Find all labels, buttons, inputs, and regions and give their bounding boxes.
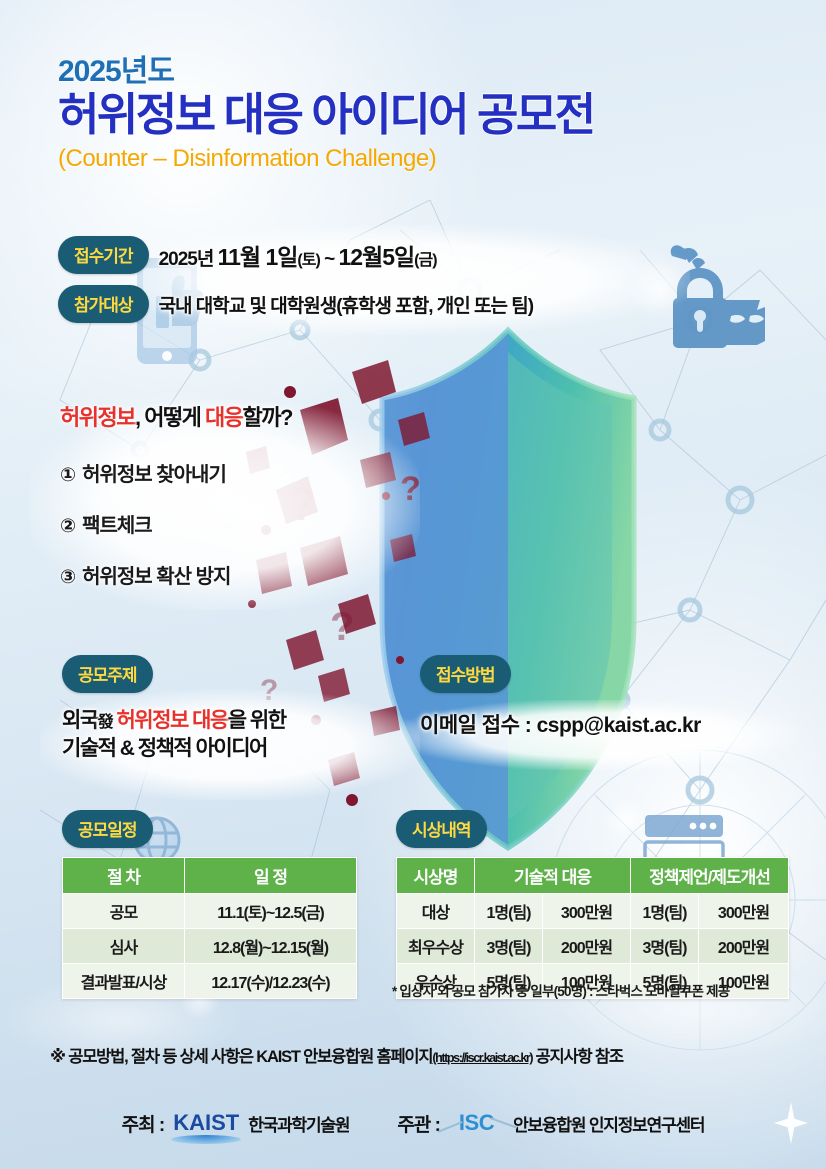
table-row: 결과발표/시상 12.17(수)/12.23(수) (63, 964, 357, 999)
badge-submission-method: 접수방법 (420, 655, 511, 693)
table-cell: 공모 (63, 894, 185, 929)
table-row: 심사 12.8(월)~12.15(월) (63, 929, 357, 964)
table-cell: 300만원 (543, 894, 631, 929)
question-list: ①허위정보 찾아내기 ②팩트체크 ③허위정보 확산 방지 (60, 458, 420, 589)
organizer-label: 주관 : (397, 1110, 440, 1137)
table-row: 공모 11.1(토)~12.5(금) (63, 894, 357, 929)
table-row: 대상 1명(팀) 300만원 1명(팀) 300만원 (397, 894, 789, 929)
topic-block: 공모주제 외국發 허위정보 대응을 위한 기술적 & 정책적 아이디어 (62, 655, 286, 764)
title-block: 2025년도 허위정보 대응 아이디어 공모전 (Counter – Disin… (58, 55, 778, 173)
list-item: ③허위정보 확산 방지 (60, 560, 420, 589)
page-title: 허위정보 대응 아이디어 공모전 (58, 90, 778, 140)
badge-awards: 시상내역 (396, 810, 487, 848)
table-cell: 11.1(토)~12.5(금) (185, 894, 357, 929)
submission-block: 접수방법 이메일 접수 : cspp@kaist.ac.kr (420, 655, 701, 739)
svg-text:?: ? (330, 605, 354, 649)
table-row: 최우수상 3명(팀) 200만원 3명(팀) 200만원 (397, 929, 789, 964)
table-header-cell: 일 정 (185, 858, 357, 894)
table-cell: 최우수상 (397, 929, 475, 964)
list-item: ①허위정보 찾아내기 (60, 458, 420, 487)
footer: 주최 : KAIST 한국과학기술원 주관 : ISC 안보융합원 인지정보연구… (0, 1100, 826, 1169)
topic-text: 외국發 허위정보 대응을 위한 기술적 & 정책적 아이디어 (62, 707, 286, 764)
badge-eligibility: 참가대상 (58, 285, 149, 323)
isc-logo: ISC (449, 1110, 504, 1136)
submission-email-text: 이메일 접수 : cspp@kaist.ac.kr (420, 709, 701, 739)
lock-mask-icon (671, 245, 765, 348)
table-cell: 300만원 (699, 894, 789, 929)
host-group: 주최 : KAIST 한국과학기술원 (122, 1110, 350, 1137)
schedule-block: 공모일정 절 차 일 정 공모 11.1(토)~12.5(금) 심사 12.8(… (62, 810, 357, 999)
kaist-swoosh (171, 1135, 241, 1144)
list-item: ②팩트체크 (60, 509, 420, 538)
poster-canvas: ? ? ? ? (0, 0, 826, 1169)
table-header-cell: 기술적 대응 (475, 858, 631, 894)
table-header-cell: 시상명 (397, 858, 475, 894)
table-cell: 200만원 (543, 929, 631, 964)
awards-table: 시상명 기술적 대응 정책제언/제도개선 대상 1명(팀) 300만원 1명(팀… (396, 857, 789, 999)
table-cell: 200만원 (699, 929, 789, 964)
table-cell: 심사 (63, 929, 185, 964)
table-header-cell: 절 차 (63, 858, 185, 894)
awards-block: 시상내역 시상명 기술적 대응 정책제언/제도개선 대상 1명(팀) 300만원… (396, 810, 789, 999)
badge-application-period: 접수기간 (58, 236, 149, 274)
info-row-period: 접수기간 2025년 11월 1일(토) ~ 12월5일(금) (58, 236, 437, 274)
question-headline: 허위정보, 어떻게 대응할까? (60, 400, 420, 432)
badge-schedule: 공모일정 (62, 810, 153, 848)
awards-note: * 입상자 외 공모 참가자 중 일부(50명) : 스타벅스 모바일쿠폰 제공 (392, 980, 729, 1000)
info-row-eligibility: 참가대상 국내 대학교 및 대학원생(휴학생 포함, 개인 또는 팀) (58, 285, 533, 323)
table-cell: 3명(팀) (475, 929, 543, 964)
table-header-row: 시상명 기술적 대응 정책제언/제도개선 (397, 858, 789, 894)
title-year: 2025년도 (58, 55, 778, 88)
notice-url[interactable]: (https://iscr.kaist.ac.kr) (432, 1051, 532, 1065)
badge-topic: 공모주제 (62, 655, 153, 693)
table-cell: 1명(팀) (631, 894, 699, 929)
question-block: 허위정보, 어떻게 대응할까? ①허위정보 찾아내기 ②팩트체크 ③허위정보 확… (60, 400, 420, 611)
bottom-notice: ※ 공모방법, 절차 등 상세 사항은 KAIST 안보융합원 홈페이지(htt… (50, 1043, 790, 1067)
table-cell: 결과발표/시상 (63, 964, 185, 999)
host-org-name: 한국과학기술원 (248, 1111, 349, 1136)
table-cell: 3명(팀) (631, 929, 699, 964)
table-header-cell: 정책제언/제도개선 (631, 858, 789, 894)
title-subtitle: (Counter – Disinformation Challenge) (58, 145, 778, 173)
organizer-org-name: 안보융합원 인지정보연구센터 (513, 1111, 704, 1136)
table-cell: 대상 (397, 894, 475, 929)
application-period-text: 2025년 11월 1일(토) ~ 12월5일(금) (159, 238, 437, 272)
table-cell: 12.8(월)~12.15(월) (185, 929, 357, 964)
host-label: 주최 : (122, 1110, 165, 1137)
table-cell: 12.17(수)/12.23(수) (185, 964, 357, 999)
schedule-table: 절 차 일 정 공모 11.1(토)~12.5(금) 심사 12.8(월)~12… (62, 857, 357, 999)
table-cell: 1명(팀) (475, 894, 543, 929)
organizer-group: 주관 : ISC 안보융합원 인지정보연구센터 (397, 1110, 704, 1137)
table-header-row: 절 차 일 정 (63, 858, 357, 894)
kaist-logo: KAIST (173, 1110, 239, 1136)
eligibility-text: 국내 대학교 및 대학원생(휴학생 포함, 개인 또는 팀) (159, 291, 534, 318)
